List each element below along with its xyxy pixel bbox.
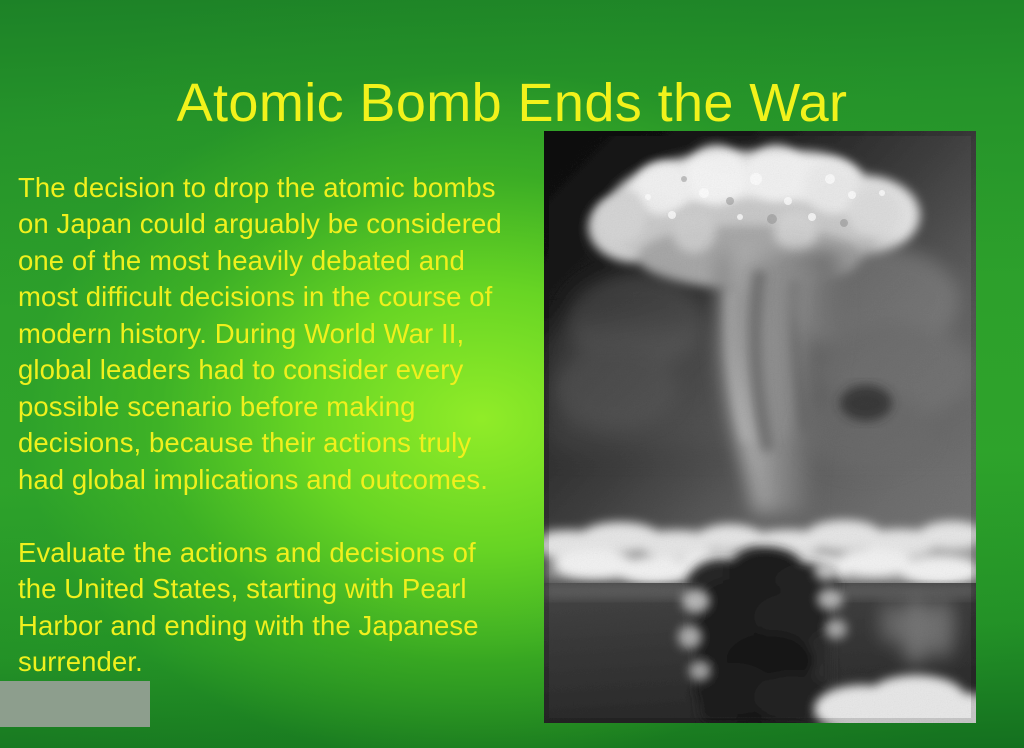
gray-placeholder-block[interactable] xyxy=(0,681,150,727)
body-paragraph-1: The decision to drop the atomic bombs on… xyxy=(18,170,518,499)
slide-body-text-box: The decision to drop the atomic bombs on… xyxy=(18,142,518,708)
slide-canvas: Atomic Bomb Ends the War The decision to… xyxy=(0,0,1024,748)
slide-title: Atomic Bomb Ends the War xyxy=(0,72,1024,134)
body-paragraph-2: Evaluate the actions and decisions of th… xyxy=(18,535,518,681)
atomic-bomb-mushroom-cloud-photo xyxy=(544,131,976,723)
